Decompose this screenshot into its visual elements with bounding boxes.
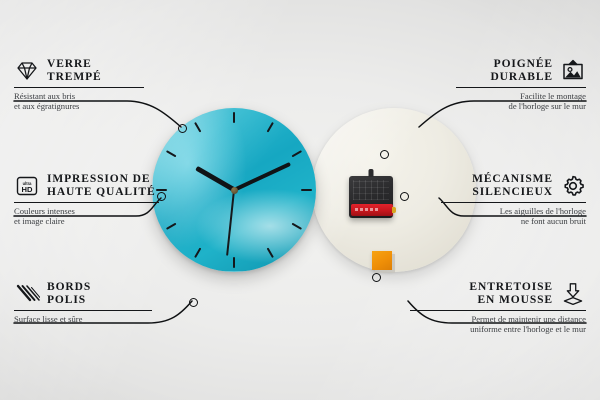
callout-title-line1: MÉCANISME [472,173,553,186]
callout-impression-haute-qualite: ultra HD IMPRESSION DE HAUTE QUALITÉ Cou… [14,173,159,227]
callout-mecanisme-silencieux: MÉCANISME SILENCIEUX Les aiguilles de l'… [441,173,586,227]
callout-title-block: ENTRETOISE EN MOUSSE [469,281,553,308]
callout-verre-trempe: VERRE TREMPÉ Résistant aux bris et aux é… [14,58,144,112]
callout-title-line2: POLIS [47,294,91,307]
callout-header: BORDS POLIS [14,281,152,308]
callout-rule [14,310,152,311]
callout-title-line2: TREMPÉ [47,71,102,84]
callout-title-line1: VERRE [47,58,102,71]
foam-spacer-icon [560,282,586,306]
callout-header: ultra HD IMPRESSION DE HAUTE QUALITÉ [14,173,159,200]
callout-sub-line1: Couleurs intenses [14,206,159,217]
callout-rule [410,310,586,311]
callout-title-line1: ENTRETOISE [469,281,553,294]
callout-rule [14,202,159,203]
callout-title-block: VERRE TREMPÉ [47,58,102,85]
battery [351,204,393,216]
callout-title-line2: DURABLE [490,71,553,84]
callout-sub-line1: Les aiguilles de l'horloge [441,206,586,217]
callout-header: VERRE TREMPÉ [14,58,144,85]
foam-spacer [372,251,392,270]
callout-sub-line1: Permet de maintenir une distance [410,314,586,325]
mechanism-shaft [369,169,374,177]
callout-sub-line2: ne font aucun bruit [441,216,586,227]
callout-title-line2: HAUTE QUALITÉ [47,186,156,199]
callout-sub-line2: uniforme entre l'horloge et le mur [410,324,586,335]
leader-endpoint-1 [178,124,187,133]
gear-icon [560,174,586,198]
callout-sub-line2: et image claire [14,216,159,227]
callout-header: POIGNÉE DURABLE [456,58,586,85]
callout-entretoise-en-mousse: ENTRETOISE EN MOUSSE Permet de maintenir… [410,281,586,335]
callout-title-line2: EN MOUSSE [469,294,553,307]
clock-front-view [152,108,316,272]
callout-title-line1: POIGNÉE [490,58,553,71]
diamond-icon [14,59,40,83]
callout-sub-line2: et aux égratignures [14,101,144,112]
infographic-canvas: VERRE TREMPÉ Résistant aux bris et aux é… [0,0,600,400]
callout-bords-polis: BORDS POLIS Surface lisse et sûre [14,281,152,324]
callout-title-block: POIGNÉE DURABLE [490,58,553,85]
callout-title-line1: BORDS [47,281,91,294]
callout-title-block: BORDS POLIS [47,281,91,308]
callout-rule [456,87,586,88]
svg-text:HD: HD [22,185,33,194]
polished-edges-icon [14,282,40,306]
mechanism-texture [353,180,389,200]
callout-sub-line1: Résistant aux bris [14,91,144,102]
callout-rule [14,87,144,88]
callout-poignee-durable: POIGNÉE DURABLE Facilite le montage de l… [456,58,586,112]
callout-sub-line1: Facilite le montage [456,91,586,102]
leader-endpoint-6 [372,273,381,282]
leader-endpoint-4 [380,150,389,159]
callout-header: ENTRETOISE EN MOUSSE [410,281,586,308]
callout-title-block: IMPRESSION DE HAUTE QUALITÉ [47,173,156,200]
callout-title-line2: SILENCIEUX [472,186,553,199]
callout-title-block: MÉCANISME SILENCIEUX [472,173,553,200]
callout-rule [441,202,586,203]
leader-endpoint-5 [400,192,409,201]
leader-endpoint-3 [189,298,198,307]
picture-hanger-icon [560,59,586,83]
callout-sub-line1: Surface lisse et sûre [14,314,152,325]
callout-sub-line2: de l'horloge sur le mur [456,101,586,112]
clock-hub [231,187,238,194]
battery-label [355,208,379,211]
callout-title-line1: IMPRESSION DE [47,173,156,186]
ultra-hd-icon: ultra HD [14,174,40,198]
callout-header: MÉCANISME SILENCIEUX [441,173,586,200]
